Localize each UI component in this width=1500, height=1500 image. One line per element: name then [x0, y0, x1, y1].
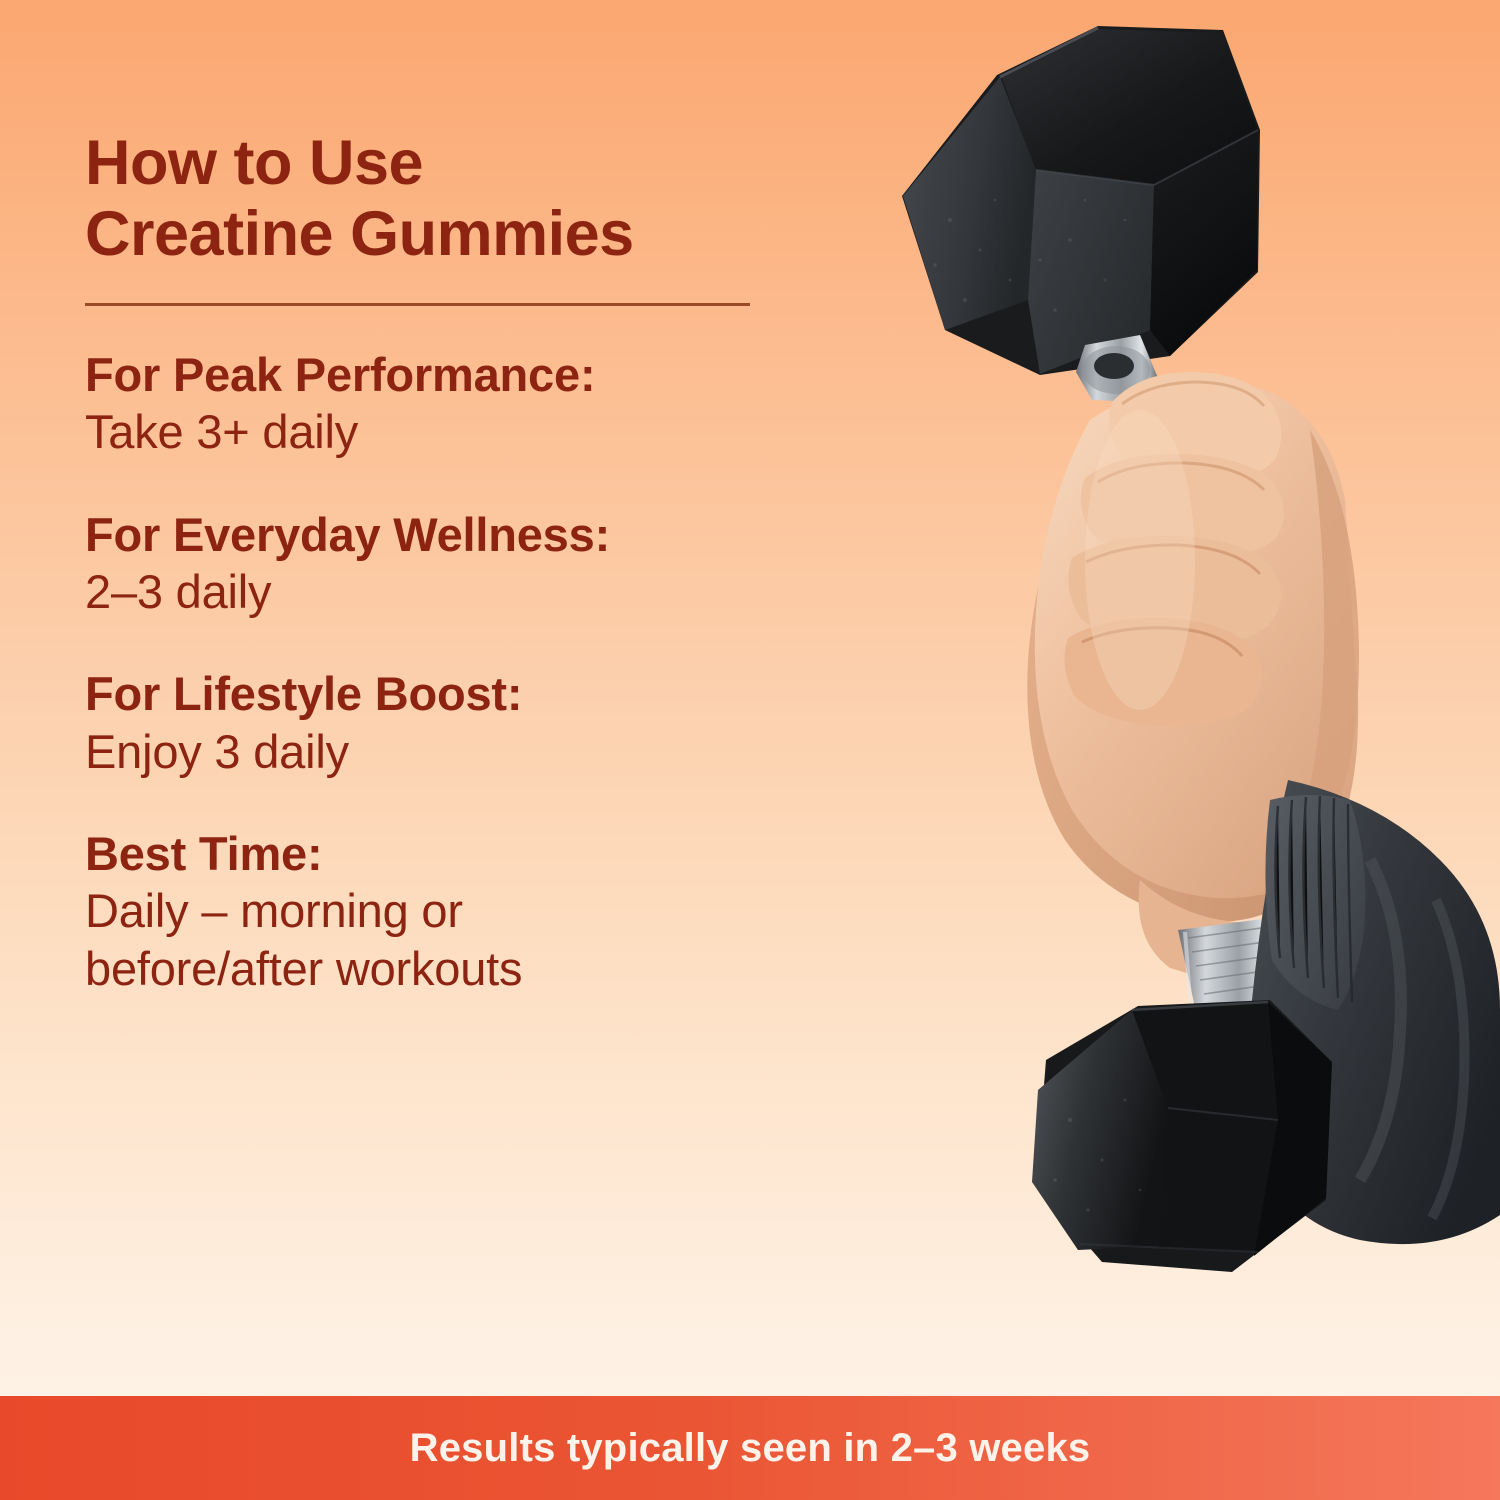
section-label: For Lifestyle Boost:: [85, 665, 875, 722]
upper-dumbbell-head: [902, 26, 1260, 375]
section-value: Daily – morning or before/after workouts: [85, 882, 875, 999]
usage-sections: For Peak Performance: Take 3+ daily For …: [85, 346, 875, 999]
page-title: How to Use Creatine Gummies: [85, 128, 875, 269]
hand-holding-dumbbell-photo: [840, 0, 1500, 1400]
results-banner-text: Results typically seen in 2–3 weeks: [410, 1426, 1091, 1471]
section-value: 2–3 daily: [85, 563, 875, 621]
section-value: Take 3+ daily: [85, 403, 875, 461]
lower-knurled-bar: [1178, 918, 1290, 1030]
sweatshirt-sleeve: [1248, 780, 1500, 1244]
section-lifestyle-boost: For Lifestyle Boost: Enjoy 3 daily: [85, 665, 875, 781]
section-label: For Peak Performance:: [85, 346, 875, 403]
text-column: How to Use Creatine Gummies For Peak Per…: [85, 128, 875, 999]
results-banner: Results typically seen in 2–3 weeks: [0, 1396, 1500, 1500]
infographic-card: How to Use Creatine Gummies For Peak Per…: [0, 0, 1500, 1500]
title-divider: [85, 303, 750, 306]
headline-line-1: How to Use: [85, 128, 875, 199]
lower-dumbbell-head: [1032, 1000, 1332, 1272]
headline-line-2: Creatine Gummies: [85, 199, 875, 270]
section-peak-performance: For Peak Performance: Take 3+ daily: [85, 346, 875, 462]
section-best-time: Best Time: Daily – morning or before/aft…: [85, 825, 875, 999]
hand-fist: [1027, 372, 1359, 982]
section-everyday-wellness: For Everyday Wellness: 2–3 daily: [85, 506, 875, 622]
upper-chrome-collar: [1076, 335, 1158, 402]
section-label: Best Time:: [85, 825, 875, 882]
section-label: For Everyday Wellness:: [85, 506, 875, 563]
section-value: Enjoy 3 daily: [85, 723, 875, 781]
